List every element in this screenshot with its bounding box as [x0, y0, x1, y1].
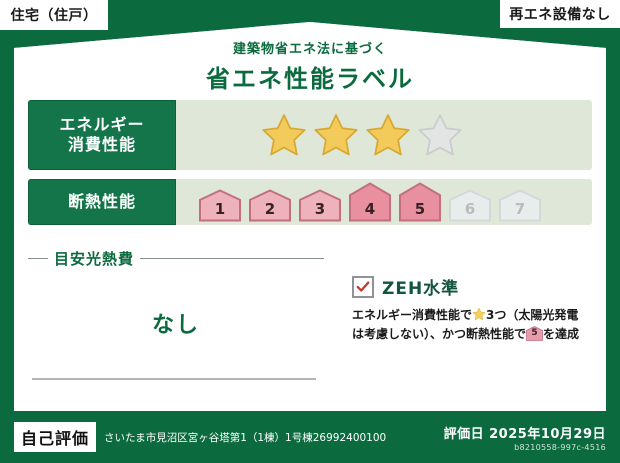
utility-cost-divider: [32, 378, 316, 380]
zeh-title: ZEH水準: [382, 274, 459, 299]
evaluation-date: 評価日 2025年10月29日: [444, 427, 606, 442]
check-icon: [356, 280, 370, 294]
star-empty-icon: [417, 112, 463, 158]
utility-cost-panel: 目安光熱費 なし: [28, 248, 324, 398]
insulation-level-6: 6: [446, 189, 494, 222]
energy-label-line1: エネルギー: [59, 115, 144, 134]
star-filled-icon: [313, 112, 359, 158]
zeh-description: エネルギー消費性能で 3つ（太陽光発電 は考慮しない）、かつ断熱性能で 5 を達…: [352, 306, 592, 343]
zeh-desc-part3: は考慮しない）、かつ断熱性能で: [352, 327, 526, 341]
utility-cost-value: なし: [28, 307, 324, 339]
energy-consumption-row: エネルギー 消費性能: [28, 100, 592, 170]
rule-right: [140, 258, 324, 259]
insulation-label: 断熱性能: [28, 179, 176, 225]
star-rating: [261, 112, 463, 158]
rule-left: [28, 258, 48, 259]
zeh-desc-part2: 3つ（太陽光発電: [486, 308, 578, 322]
zeh-checkbox[interactable]: [352, 276, 374, 298]
renewable-equipment-tab: 再エネ設備なし: [498, 0, 620, 30]
insulation-level-4: 4: [346, 182, 394, 222]
energy-consumption-label: エネルギー 消費性能: [28, 100, 176, 170]
star-filled-icon: [365, 112, 411, 158]
insulation-level-number: 4: [346, 200, 394, 218]
inline-star-icon: [472, 307, 486, 321]
utility-cost-title: 目安光熱費: [54, 248, 134, 269]
energy-label-line2: 消費性能: [68, 135, 136, 154]
insulation-level-number: 2: [246, 200, 294, 218]
self-evaluation-badge: 自己評価: [14, 422, 96, 452]
evaluation-date-block: 評価日 2025年10月29日 b8210558-997c-4516: [444, 423, 606, 452]
label-title-block: 建築物省エネ法に基づく 省エネ性能ラベル: [0, 38, 620, 94]
insulation-level-number: 7: [496, 200, 544, 218]
zeh-desc-part1: エネルギー消費性能で: [352, 308, 472, 322]
insulation-row: 断熱性能 1234567: [28, 179, 592, 225]
insulation-level-number: 5: [396, 200, 444, 218]
lower-panels: 目安光熱費 なし ZEH水準 エネルギー消費性能で 3つ（太陽光発電: [28, 248, 592, 398]
page-title: 省エネ性能ラベル: [0, 59, 620, 94]
utility-cost-header: 目安光熱費: [28, 248, 324, 269]
insulation-level-1: 1: [196, 189, 244, 222]
insulation-level-scale: 1234567: [196, 182, 544, 222]
insulation-level-number: 3: [296, 200, 344, 218]
label-footer: 自己評価 さいたま市見沼区宮ヶ谷塔第1（1棟）1号棟26992400100 評価…: [0, 411, 620, 463]
insulation-level-7: 7: [496, 189, 544, 222]
energy-consumption-body: [176, 100, 592, 170]
insulation-level-3: 3: [296, 189, 344, 222]
building-type-tab: 住宅（住戸）: [0, 0, 110, 32]
zeh-panel: ZEH水準 エネルギー消費性能で 3つ（太陽光発電 は考慮しない）、かつ断熱性能…: [324, 248, 592, 398]
title-subtitle: 建築物省エネ法に基づく: [0, 38, 620, 57]
zeh-header: ZEH水準: [352, 274, 592, 299]
inline-house-number: 5: [526, 327, 543, 341]
energy-performance-label: 住宅（住戸） 再エネ設備なし 建築物省エネ法に基づく 省エネ性能ラベル エネルギ…: [0, 0, 620, 463]
performance-rows: エネルギー 消費性能 断熱性能 1234567: [28, 100, 592, 234]
zeh-desc-part4: を達成: [543, 327, 579, 341]
insulation-body: 1234567: [176, 179, 592, 225]
inline-house-badge: 5: [526, 326, 543, 341]
insulation-level-number: 1: [196, 200, 244, 218]
star-filled-icon: [261, 112, 307, 158]
insulation-level-5: 5: [396, 182, 444, 222]
insulation-level-2: 2: [246, 189, 294, 222]
property-address: さいたま市見沼区宮ヶ谷塔第1（1棟）1号棟26992400100: [104, 430, 444, 445]
document-id: b8210558-997c-4516: [444, 443, 606, 452]
insulation-level-number: 6: [446, 200, 494, 218]
